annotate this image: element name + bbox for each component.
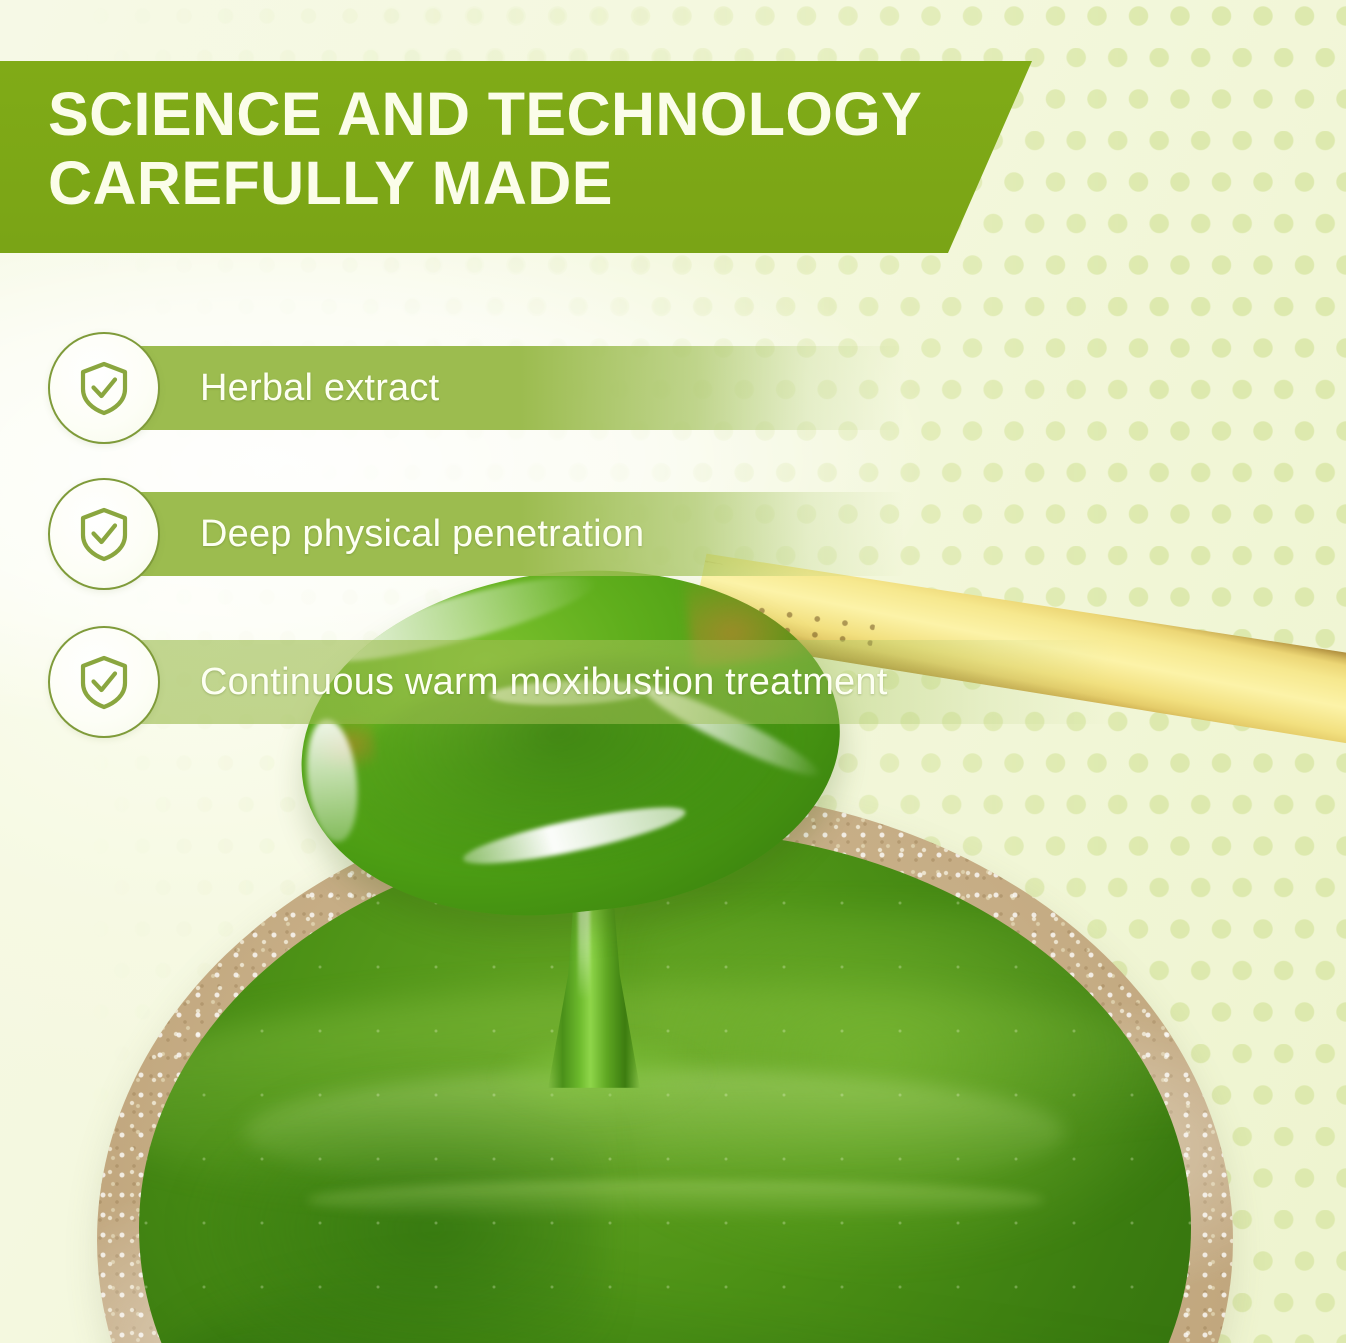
promo-poster: SCIENCE AND TECHNOLOGY CAREFULLY MADE He…: [0, 0, 1346, 1343]
shield-check-icon: [48, 626, 160, 738]
feature-label: Herbal extract: [200, 346, 439, 430]
feature-label: Continuous warm moxibustion treatment: [200, 640, 888, 724]
feature-label: Deep physical penetration: [200, 492, 644, 576]
shield-check-icon: [48, 478, 160, 590]
feature-list: Herbal extract Deep physical penetration…: [0, 0, 1346, 1343]
shield-check-icon: [48, 332, 160, 444]
